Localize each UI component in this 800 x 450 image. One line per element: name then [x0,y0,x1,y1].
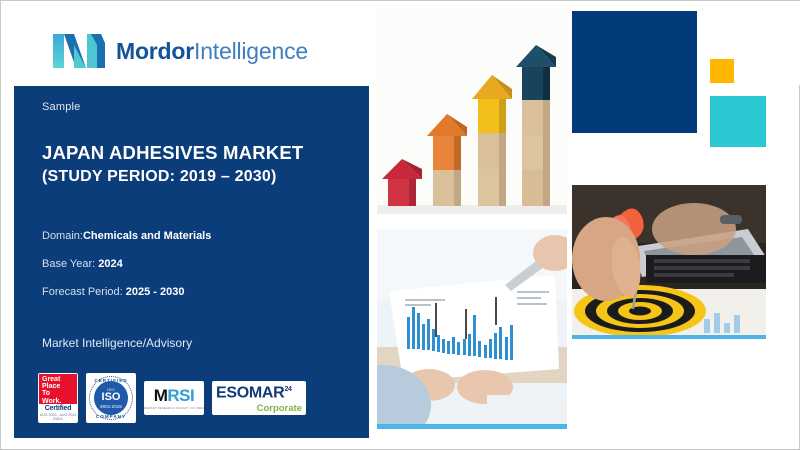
business-chart-paper-photo [377,229,567,429]
meta-forecast-period: Forecast Period: 2025 - 2030 [42,286,184,298]
esomar-wordmark: ESOMAR24 [216,382,302,401]
meta-domain-label: Domain: [42,230,83,242]
dart-target-graphic [572,185,766,339]
cover-info-panel: Sample JAPAN ADHESIVES MARKET (STUDY PER… [14,86,369,438]
meta-base-year-value: 2024 [98,258,122,270]
mrsi-wordmark: MRSI [154,387,195,404]
gptw-period-label: AUG 2023 - AUG 2024 INDIA [39,413,77,421]
esomar-word-text: ESOMAR [216,385,284,402]
sample-label: Sample [42,101,81,113]
business-chart-graphic [377,229,567,429]
brand-name-bold: Mordor [116,38,194,64]
report-cover-page: MordorIntelligence Sample JAPAN ADHESIVE… [0,0,800,450]
mrsi-badge: MRSI MARKET RESEARCH SOCIETY OF INDIA [144,381,204,415]
mrsi-word-dark: M [154,386,168,405]
meta-base-year-label: Base Year: [42,258,95,270]
great-place-to-work-badge: Great Place To Work. Certified AUG 2023 … [38,373,78,423]
gptw-line-4: Work. [42,398,77,405]
brand-wordmark: MordorIntelligence [116,40,308,63]
brand-name-light: Intelligence [194,38,308,64]
gptw-certified-label: Certified [45,405,72,412]
page-title: JAPAN ADHESIVES MARKET (STUDY PERIOD: 20… [42,142,360,188]
gptw-red-block: Great Place To Work. [39,374,77,404]
dart-target-laptop-photo [572,185,766,339]
esomar-corporate-badge: ESOMAR24 Corporate [212,381,306,415]
advisory-tagline: Market Intelligence/Advisory [42,336,192,350]
gptw-line-1: Great [42,376,77,383]
navy-square [572,11,697,133]
amber-square [710,59,734,83]
meta-forecast-label: Forecast Period: [42,286,123,298]
esomar-superscript: 24 [284,386,291,393]
iso-standard-number: 9001:2015 [100,404,122,409]
mrsi-word-accent: RSI [167,386,194,405]
report-title-main: JAPAN ADHESIVES MARKET [42,142,360,165]
mordor-m-logo-icon [53,33,105,69]
meta-base-year: Base Year: 2024 [42,258,123,270]
certification-badges: Great Place To Work. Certified AUG 2023 … [38,373,306,423]
esomar-corporate-label: Corporate [216,404,302,414]
meta-forecast-value: 2025 - 2030 [126,286,185,298]
meta-domain: Domain:Chemicals and Materials [42,230,211,242]
mrsi-subtitle: MARKET RESEARCH SOCIETY OF INDIA [144,406,204,410]
meta-domain-value: Chemicals and Materials [83,230,211,242]
cover-image-collage: +1 617 765 2493 info@mordorintelligence.… [369,1,800,450]
mordor-intelligence-logo[interactable]: MordorIntelligence [53,33,308,69]
iso-certified-badge: CERTIFIED COMPANY ISO ISO 9001:2015 [86,373,136,423]
wooden-block-houses-photo [377,9,567,214]
report-title-period: (STUDY PERIOD: 2019 – 2030) [42,167,360,188]
gptw-line-3: To [42,390,77,397]
wooden-block-houses-graphic [377,9,567,214]
cyan-square [710,96,766,147]
iso-inner-disc: ISO ISO 9001:2015 [94,381,128,415]
iso-top-text: ISO [107,387,115,392]
gptw-line-2: Place [42,383,77,390]
iso-main-text: ISO [102,392,121,403]
